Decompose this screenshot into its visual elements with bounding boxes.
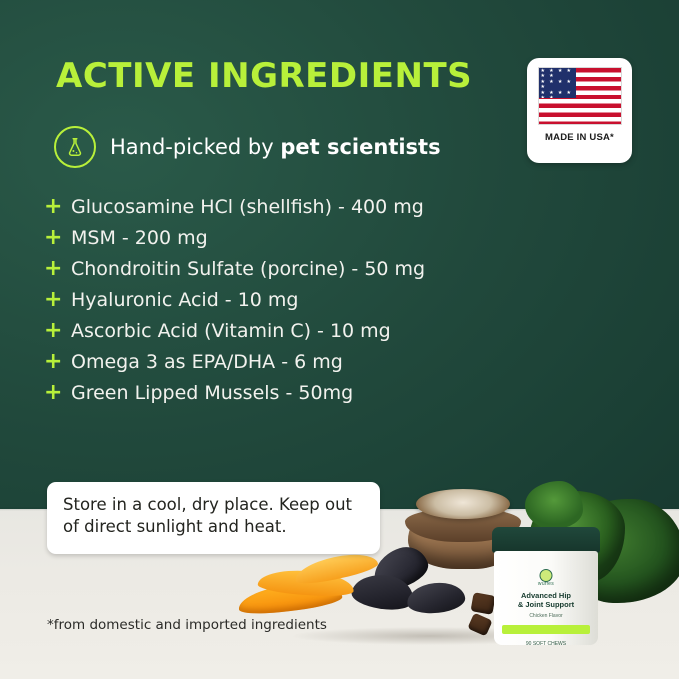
- jar-accent-strip: [502, 625, 590, 634]
- footnote: *from domestic and imported ingredients: [47, 617, 327, 633]
- page-title: ACTIVE INGREDIENTS: [56, 56, 472, 96]
- product-jar-image: wuffes Advanced Hip & Joint Support Chic…: [492, 527, 600, 645]
- ingredient-label: Chondroitin Sulfate (porcine) - 50 mg: [71, 258, 425, 280]
- plus-icon: +: [44, 258, 58, 280]
- jar-brand: wuffes: [494, 581, 598, 587]
- flask-scientist-icon: [54, 126, 96, 168]
- ingredient-list: + Glucosamine HCl (shellfish) - 400 mg +…: [44, 196, 604, 413]
- jar-name-line2: & Joint Support: [518, 600, 574, 609]
- ingredient-label: Omega 3 as EPA/DHA - 6 mg: [71, 351, 343, 373]
- list-item: + Hyaluronic Acid - 10 mg: [44, 289, 604, 311]
- jar-name-line1: Advanced Hip: [521, 591, 571, 600]
- plus-icon: +: [44, 351, 58, 373]
- ingredient-label: MSM - 200 mg: [71, 227, 208, 249]
- plus-icon: +: [44, 320, 58, 342]
- list-item: + Ascorbic Acid (Vitamin C) - 10 mg: [44, 320, 604, 342]
- jar-flavor: Chicken Flavor: [494, 613, 598, 619]
- usa-flag-icon: ★ ★ ★ ★ ★ ★★ ★ ★ ★ ★★ ★ ★ ★ ★ ★★ ★ ★ ★ ★…: [538, 67, 622, 125]
- hand-picked-row: Hand-picked by pet scientists: [54, 126, 441, 168]
- plus-icon: +: [44, 227, 58, 249]
- list-item: + Glucosamine HCl (shellfish) - 400 mg: [44, 196, 604, 218]
- list-item: + Omega 3 as EPA/DHA - 6 mg: [44, 351, 604, 373]
- made-in-usa-badge: ★ ★ ★ ★ ★ ★★ ★ ★ ★ ★★ ★ ★ ★ ★ ★★ ★ ★ ★ ★…: [527, 58, 632, 163]
- hand-picked-prefix: Hand-picked by: [110, 135, 280, 159]
- flag-stars: ★ ★ ★ ★ ★ ★★ ★ ★ ★ ★★ ★ ★ ★ ★ ★★ ★ ★ ★ ★…: [539, 68, 577, 98]
- hand-picked-text: Hand-picked by pet scientists: [110, 135, 441, 159]
- kale-leaf-icon: [525, 481, 583, 529]
- plus-icon: +: [44, 196, 58, 218]
- jar-label: wuffes Advanced Hip & Joint Support Chic…: [494, 551, 598, 645]
- bark-bowl-top: [416, 489, 510, 519]
- plus-icon: +: [44, 382, 58, 404]
- flag-canton: ★ ★ ★ ★ ★ ★★ ★ ★ ★ ★★ ★ ★ ★ ★ ★★ ★ ★ ★ ★…: [539, 68, 577, 98]
- plus-icon: +: [44, 289, 58, 311]
- jar-lid: [492, 527, 600, 553]
- jar-product-name: Advanced Hip & Joint Support: [494, 591, 598, 609]
- list-item: + MSM - 200 mg: [44, 227, 604, 249]
- ingredient-label: Ascorbic Acid (Vitamin C) - 10 mg: [71, 320, 391, 342]
- ingredient-label: Hyaluronic Acid - 10 mg: [71, 289, 299, 311]
- hand-picked-emphasis: pet scientists: [280, 135, 440, 159]
- list-item: + Green Lipped Mussels - 50mg: [44, 382, 604, 404]
- jar-count: 90 SOFT CHEWS: [494, 641, 598, 647]
- storage-callout: Store in a cool, dry place. Keep out of …: [47, 482, 380, 554]
- list-item: + Chondroitin Sulfate (porcine) - 50 mg: [44, 258, 604, 280]
- product-infographic: ACTIVE INGREDIENTS ★ ★ ★ ★ ★ ★★ ★ ★ ★ ★★…: [0, 0, 679, 679]
- ingredient-label: Green Lipped Mussels - 50mg: [71, 382, 353, 404]
- made-in-usa-label: MADE IN USA*: [545, 132, 614, 143]
- ingredient-label: Glucosamine HCl (shellfish) - 400 mg: [71, 196, 424, 218]
